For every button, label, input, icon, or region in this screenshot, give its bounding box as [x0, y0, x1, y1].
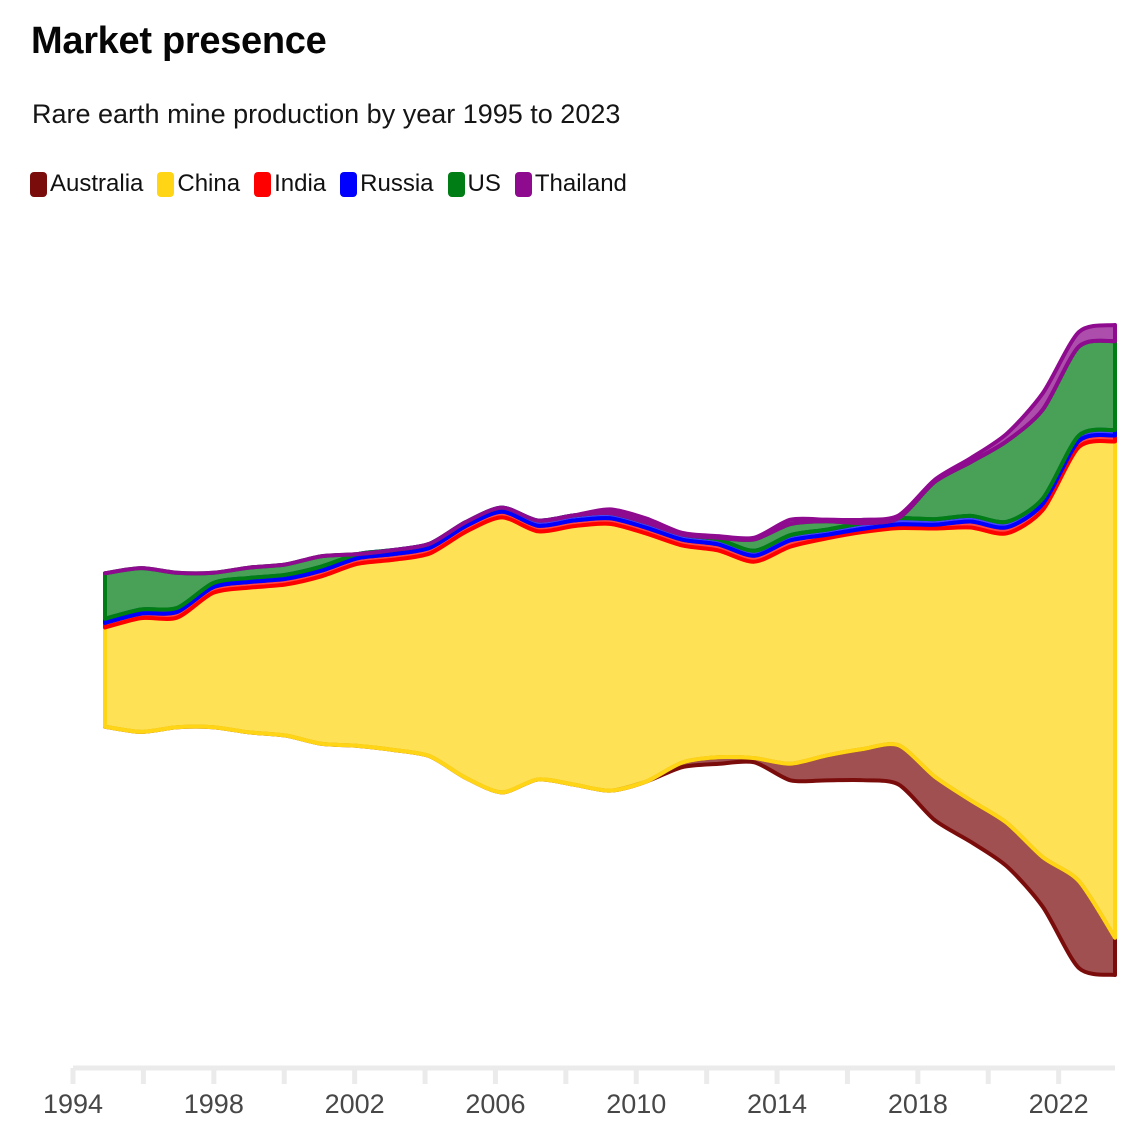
streamgraph-plot: 19941998200220062010201420182022	[0, 0, 1146, 1140]
x-axis-tick-label: 2014	[747, 1089, 807, 1119]
x-axis-tick-label: 2010	[606, 1089, 666, 1119]
x-axis: 19941998200220062010201420182022	[43, 1068, 1115, 1119]
x-axis-tick-label: 2002	[325, 1089, 385, 1119]
x-axis-tick-label: 2006	[465, 1089, 525, 1119]
x-axis-tick-label: 1994	[43, 1089, 103, 1119]
x-axis-tick-label: 2018	[888, 1089, 948, 1119]
x-axis-tick-label: 2022	[1029, 1089, 1089, 1119]
stream-layers	[105, 325, 1115, 975]
chart-page: Market presence Rare earth mine producti…	[0, 0, 1146, 1140]
x-axis-tick-label: 1998	[184, 1089, 244, 1119]
